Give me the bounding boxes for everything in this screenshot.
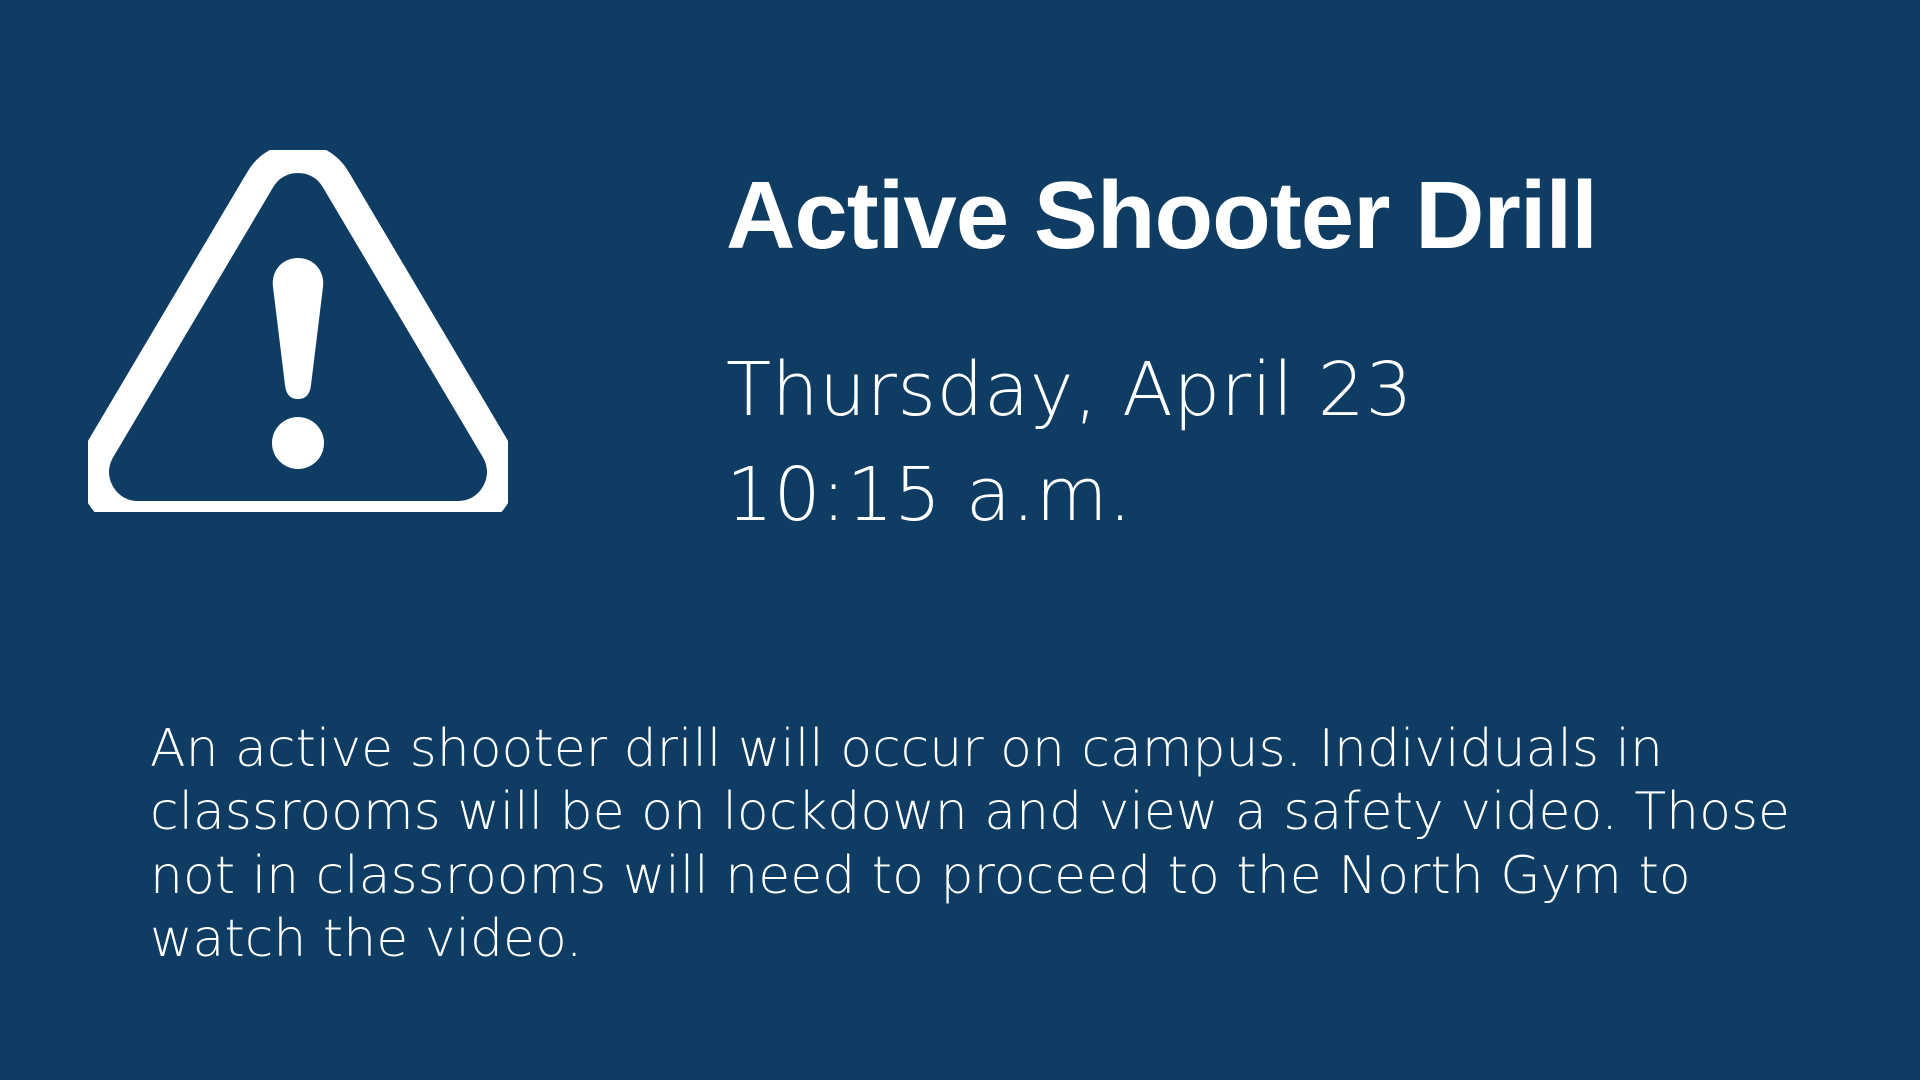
- page-title: Active Shooter Drill: [726, 168, 1836, 264]
- warning-triangle-exclamation-icon: [88, 150, 508, 512]
- headline-block: Active Shooter Drill Thursday, April 23 …: [726, 168, 1836, 548]
- body-block: An active shooter drill will occur on ca…: [150, 718, 1810, 972]
- event-date: Thursday, April 23: [726, 338, 1836, 443]
- notice-slide: Active Shooter Drill Thursday, April 23 …: [0, 0, 1920, 1080]
- event-datetime: Thursday, April 23 10:15 a.m.: [726, 338, 1836, 548]
- notice-description: An active shooter drill will occur on ca…: [150, 718, 1810, 972]
- event-time: 10:15 a.m.: [726, 443, 1836, 548]
